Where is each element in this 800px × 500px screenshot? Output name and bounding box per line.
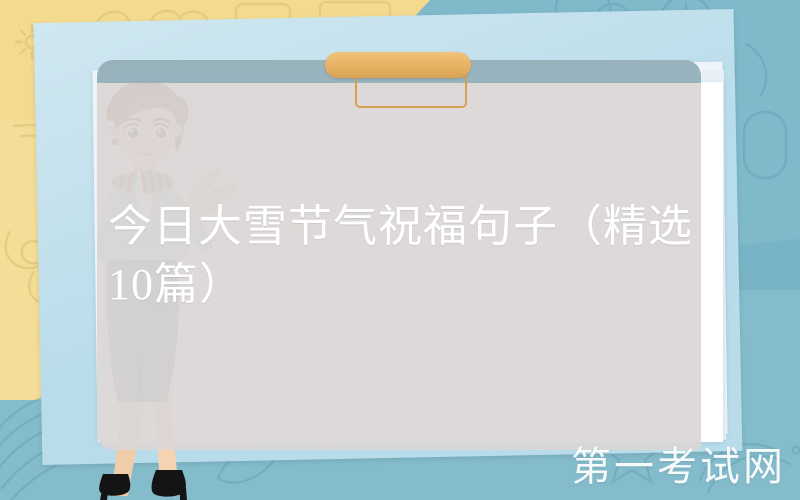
clipboard-clip bbox=[325, 46, 495, 112]
thumbnail-canvas: 今日大雪节气祝福句子（精选10篇） 第一考试网 bbox=[0, 0, 800, 500]
high-heel-shoes bbox=[99, 470, 187, 500]
page-title: 今日大雪节气祝福句子（精选10篇） bbox=[108, 198, 728, 314]
clipboard-clip-bar bbox=[325, 52, 471, 78]
site-watermark: 第一考试网 bbox=[571, 434, 786, 492]
